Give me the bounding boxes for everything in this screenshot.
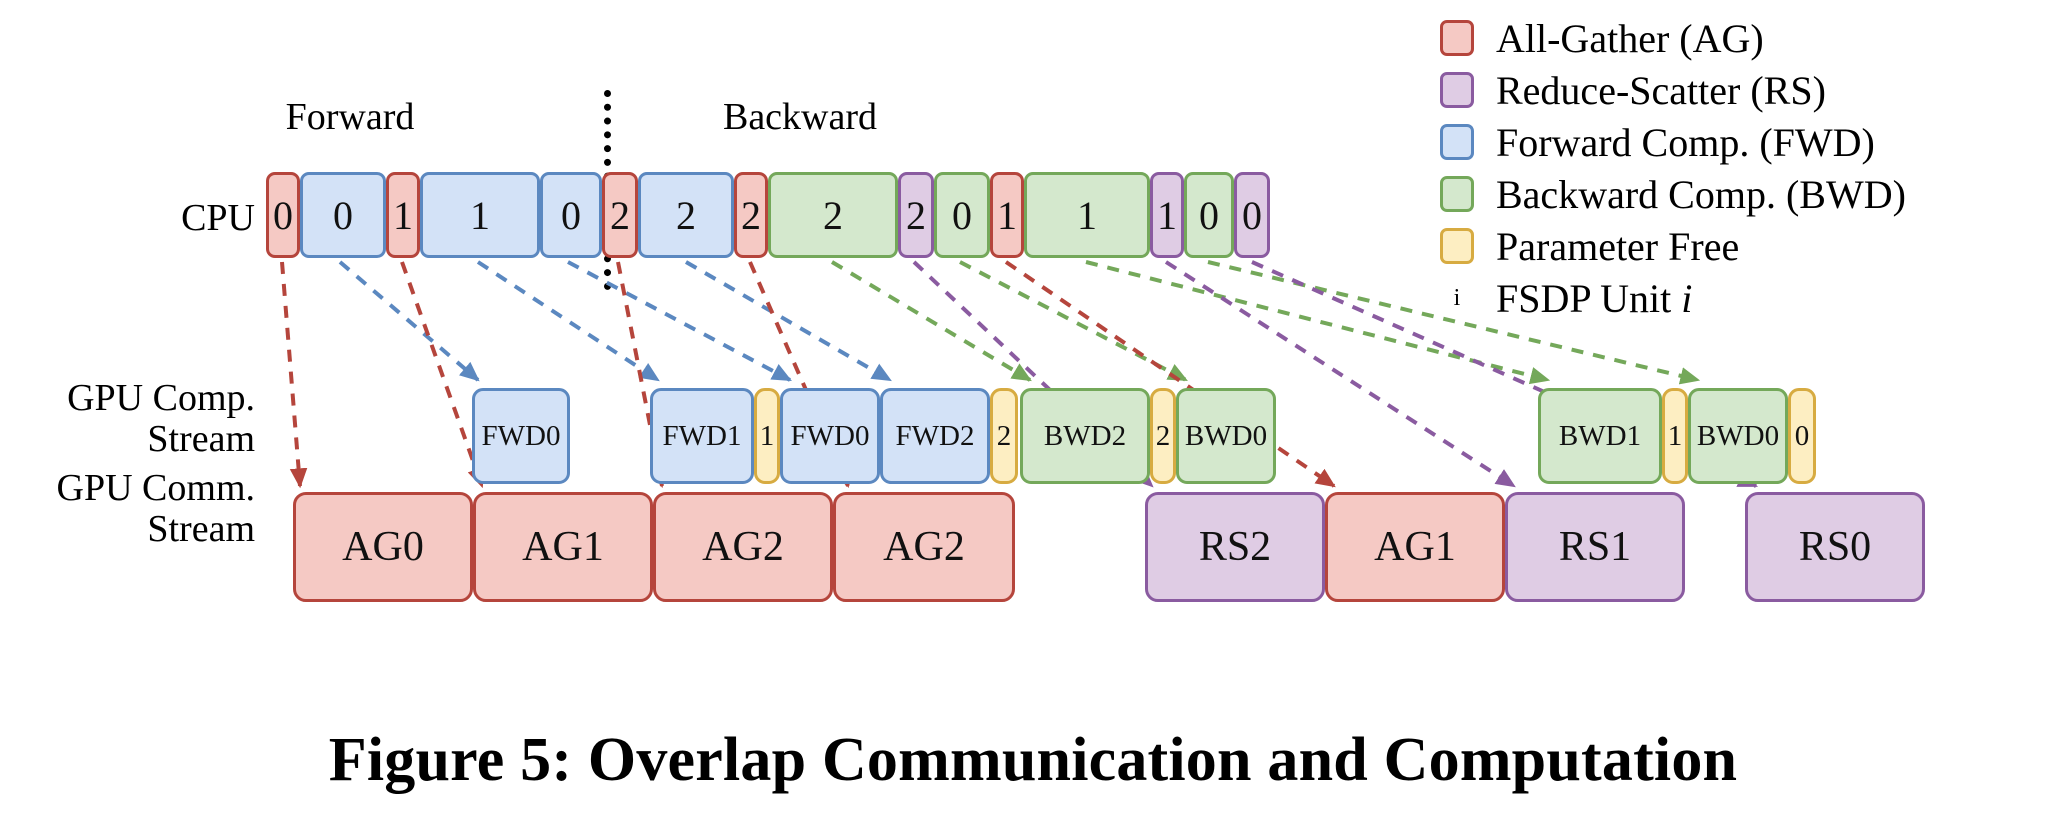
gpu-comp-block-pf-2[interactable]: 2 [1150,388,1176,484]
legend-swatch-ag [1440,20,1474,56]
cpu-block-fwd-1[interactable]: 1 [420,172,540,258]
legend-label-text: FSDP Unit [1496,276,1681,321]
cpu-block-ag-2[interactable]: 2 [734,172,768,258]
legend-item-bwd: Backward Comp. (BWD) [1440,168,1906,220]
arrow-cpu-bwd2-to-comp-bwd2 [832,262,1030,380]
legend-label-ag: All-Gather (AG) [1496,15,1764,62]
cpu-block-fwd-0[interactable]: 0 [540,172,602,258]
cpu-block-ag-0[interactable]: 0 [266,172,300,258]
figure-canvas: ForwardBackward CPUGPU Comp. StreamGPU C… [0,0,2066,826]
legend-item-rs: Reduce-Scatter (RS) [1440,64,1906,116]
gpu-comm-block-ag-ag1[interactable]: AG1 [473,492,653,602]
legend-label-rs: Reduce-Scatter (RS) [1496,67,1826,114]
legend-swatch-fwd [1440,124,1474,160]
gpu-comp-block-bwd-bwd1[interactable]: BWD1 [1538,388,1662,484]
legend-label-fwd: Forward Comp. (FWD) [1496,119,1875,166]
legend-label-bwd: Backward Comp. (BWD) [1496,171,1906,218]
cpu-block-ag-1[interactable]: 1 [386,172,420,258]
gpu-comp-block-fwd-fwd0[interactable]: FWD0 [472,388,570,484]
gpu-comp-block-pf-1[interactable]: 1 [1662,388,1688,484]
cpu-block-bwd-2[interactable]: 2 [768,172,898,258]
figure-caption: Figure 5: Overlap Communication and Comp… [0,725,2066,796]
cpu-block-rs-0[interactable]: 0 [1234,172,1270,258]
legend-label-pf: Parameter Free [1496,223,1739,270]
legend-item-pf: Parameter Free [1440,220,1906,272]
cpu-block-fwd-0[interactable]: 0 [300,172,386,258]
gpu-comm-stream-row: AG0AG1AG2AG2RS2AG1RS1RS0 [0,492,2066,602]
gpu-comp-block-bwd-bwd0[interactable]: BWD0 [1176,388,1276,484]
gpu-comp-block-bwd-bwd0[interactable]: BWD0 [1688,388,1788,484]
gpu-comp-block-pf-1[interactable]: 1 [754,388,780,484]
arrow-cpu-fwd2-to-comp-fwd2 [686,262,890,380]
arrow-cpu-fwd0-to-comp-fwd0 [340,262,478,380]
gpu-comp-stream-row: FWD0FWD11FWD0FWD22BWD22BWD0BWD11BWD00 [0,388,2066,484]
gpu-comp-block-fwd-fwd2[interactable]: FWD2 [880,388,990,484]
gpu-comp-block-bwd-bwd2[interactable]: BWD2 [1020,388,1150,484]
cpu-block-bwd-0[interactable]: 0 [934,172,990,258]
legend: All-Gather (AG)Reduce-Scatter (RS)Forwar… [1440,12,1906,324]
phase-label-forward: Forward [250,95,450,139]
legend-item-fwd: Forward Comp. (FWD) [1440,116,1906,168]
cpu-block-rs-1[interactable]: 1 [1150,172,1184,258]
gpu-comm-block-ag-ag2[interactable]: AG2 [833,492,1015,602]
gpu-comp-block-pf-0[interactable]: 0 [1788,388,1816,484]
legend-item-unit: iFSDP Unit i [1440,272,1906,324]
cpu-block-ag-2[interactable]: 2 [602,172,638,258]
gpu-comp-block-pf-2[interactable]: 2 [990,388,1018,484]
legend-label-italic-index: i [1681,276,1692,321]
cpu-block-fwd-2[interactable]: 2 [638,172,734,258]
gpu-comp-block-fwd-fwd1[interactable]: FWD1 [650,388,754,484]
legend-item-ag: All-Gather (AG) [1440,12,1906,64]
arrow-cpu-fwd0b-to-comp-fwd0b [568,262,790,380]
legend-unit-index-icon: i [1440,285,1474,312]
legend-swatch-pf [1440,228,1474,264]
gpu-comm-block-rs-rs1[interactable]: RS1 [1505,492,1685,602]
legend-label-unit: FSDP Unit i [1496,275,1692,322]
legend-swatch-bwd [1440,176,1474,212]
arrow-cpu-bwd0-to-comp-bwd0 [960,262,1186,380]
cpu-block-bwd-1[interactable]: 1 [1024,172,1150,258]
cpu-block-ag-1[interactable]: 1 [990,172,1024,258]
cpu-block-rs-2[interactable]: 2 [898,172,934,258]
gpu-comm-block-rs-rs0[interactable]: RS0 [1745,492,1925,602]
gpu-comm-block-rs-rs2[interactable]: RS2 [1145,492,1325,602]
gpu-comm-block-ag-ag0[interactable]: AG0 [293,492,473,602]
gpu-comp-block-fwd-fwd0[interactable]: FWD0 [780,388,880,484]
gpu-comm-block-ag-ag1[interactable]: AG1 [1325,492,1505,602]
legend-swatch-rs [1440,72,1474,108]
gpu-comm-block-ag-ag2[interactable]: AG2 [653,492,833,602]
cpu-block-bwd-0[interactable]: 0 [1184,172,1234,258]
phase-label-backward: Backward [690,95,910,139]
arrow-cpu-fwd1-to-comp-fwd1 [478,262,658,380]
